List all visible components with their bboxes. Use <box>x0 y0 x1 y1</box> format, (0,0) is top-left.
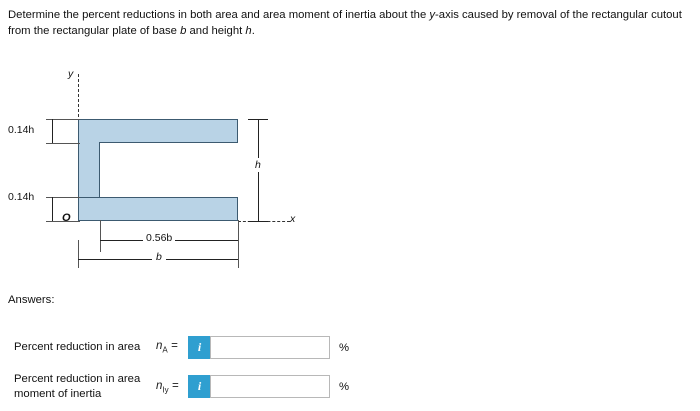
answer-inertia-unit: % <box>339 381 349 393</box>
answer-inertia-symbol-sub: Iy <box>162 385 168 394</box>
answer-inertia-label-line2: moment of inertia <box>14 387 156 402</box>
answer-area-equals: = <box>171 340 178 352</box>
answer-inertia-label: Percent reduction in area moment of iner… <box>14 372 156 401</box>
y-axis-label: y <box>68 68 73 80</box>
answer-area-label: Percent reduction in area <box>14 340 156 355</box>
answer-area-input[interactable] <box>210 336 330 359</box>
figure-diagram: y x O 0.14h 0.14h h 0.56b b <box>0 60 420 275</box>
plate-bottom-flange <box>78 197 238 221</box>
answer-row-inertia: Percent reduction in area moment of iner… <box>14 372 349 401</box>
plate-top-flange <box>78 119 238 143</box>
info-icon-inertia[interactable]: i <box>188 375 210 398</box>
cutout-dim-extension-left <box>100 220 101 252</box>
answer-area-symbol-sub: A <box>162 346 167 355</box>
answer-area-symbol: nA = <box>156 340 188 354</box>
bottom-flange-dim-extension-lower <box>46 221 80 222</box>
answer-inertia-equals: = <box>172 380 179 392</box>
base-dim-label: b <box>152 251 166 263</box>
problem-text-1: Determine the percent reductions in both… <box>8 9 429 21</box>
problem-statement: Determine the percent reductions in both… <box>8 7 690 40</box>
height-dim-label: h <box>252 158 264 172</box>
height-dim-tick-bottom <box>248 221 268 222</box>
cutout-dim-label: 0.56b <box>143 232 175 244</box>
top-flange-dim-arrow-line <box>52 119 53 143</box>
answer-area-unit: % <box>339 342 349 354</box>
top-flange-dim-extension-lower <box>46 143 80 144</box>
problem-text-5: . <box>252 25 255 37</box>
bottom-flange-dim-label: 0.14h <box>8 191 34 203</box>
info-icon-area[interactable]: i <box>188 336 210 359</box>
origin-label: O <box>62 212 71 224</box>
top-flange-dim-label: 0.14h <box>8 124 34 136</box>
bottom-flange-dim-arrow-line <box>52 197 53 221</box>
plate-left-web <box>78 142 100 198</box>
answer-row-area: Percent reduction in area nA = i % <box>14 336 349 359</box>
answer-inertia-label-line1: Percent reduction in area <box>14 372 156 387</box>
base-dim-extension-right <box>238 240 239 268</box>
x-axis-label: x <box>290 213 295 225</box>
problem-text-2: -axis caused by removal of the rectangul… <box>435 9 648 21</box>
answers-heading: Answers: <box>8 294 54 306</box>
base-dim-extension-left <box>78 240 79 268</box>
problem-text-4: and height <box>186 25 245 37</box>
answer-inertia-input[interactable] <box>210 375 330 398</box>
answer-inertia-symbol: nIy = <box>156 380 188 394</box>
